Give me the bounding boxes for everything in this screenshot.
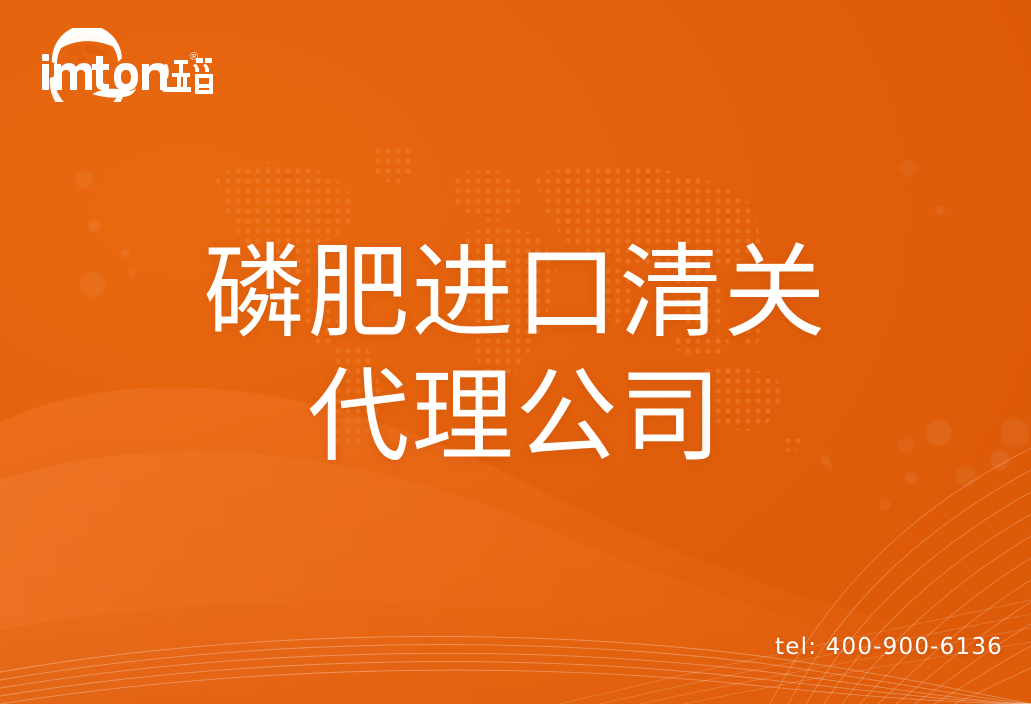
registered-trademark-symbol: ® (190, 52, 198, 63)
contact-phone[interactable]: tel: 400-900-6136 (775, 634, 1003, 660)
title-line-1: 磷肥进口清关 (0, 232, 1031, 356)
brand-logo[interactable]: ® (34, 28, 214, 102)
page-title: 磷肥进口清关 代理公司 (0, 232, 1031, 480)
globe-logo-icon (34, 28, 214, 102)
poster-canvas: ® 磷肥进口清关 代理公司 tel: 400-900-6136 (0, 0, 1031, 704)
title-line-2: 代理公司 (0, 356, 1031, 480)
